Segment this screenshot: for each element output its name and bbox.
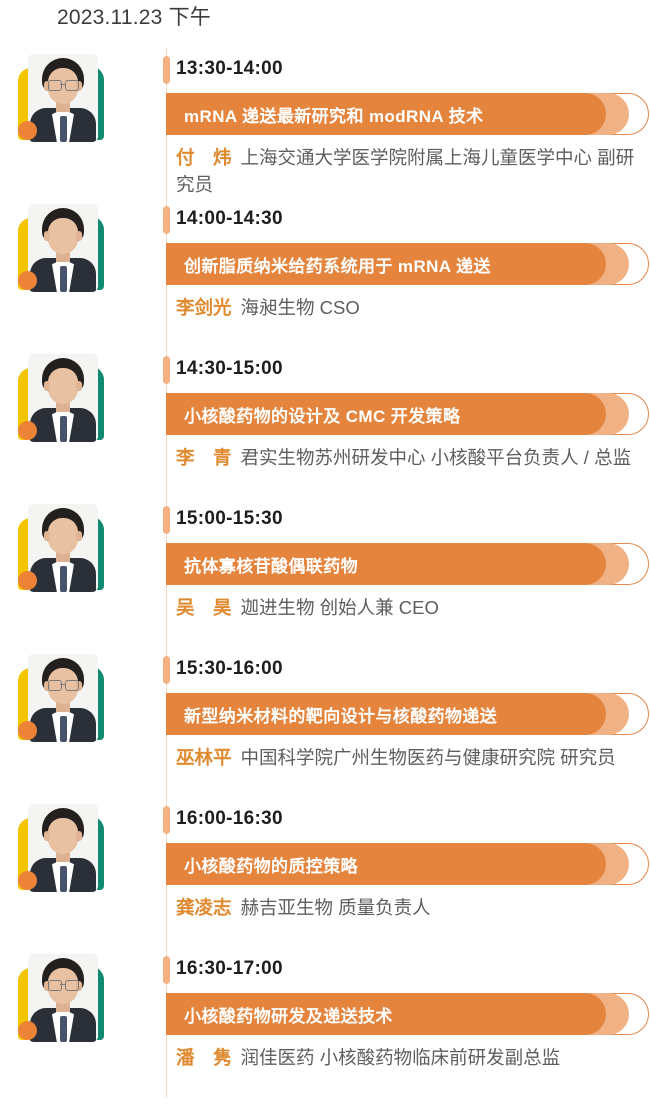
timeline-tick [163,806,170,834]
timeline-tick [163,206,170,234]
session-title: 小核酸药物的设计及 CMC 开发策略 [184,402,460,427]
speaker-info: 吴 昊迦进生物 创始人兼 CEO [176,594,646,621]
page-title: 2023.11.23 下午 [57,4,211,32]
speaker-avatar [14,204,110,292]
session-time: 14:30-15:00 [176,358,283,380]
speaker-name: 付 炜 [176,147,232,168]
session-time: 16:00-16:30 [176,808,283,830]
speaker-info: 龚凌志赫吉亚生物 质量负责人 [176,894,646,921]
speaker-info: 付 炜上海交通大学医学院附属上海儿童医学中心 副研究员 [176,144,646,198]
speaker-info: 李剑光海昶生物 CSO [176,294,646,321]
speaker-affiliation: 上海交通大学医学院附属上海儿童医学中心 副研究员 [176,147,634,195]
speaker-affiliation: 中国科学院广州生物医药与健康研究院 研究员 [241,747,616,768]
session-row[interactable]: 15:30-16:00新型纳米材料的靶向设计与核酸药物递送巫林平中国科学院广州生… [0,648,650,798]
speaker-photo [28,54,98,142]
session-title: 抗体寡核苷酸偶联药物 [184,552,358,577]
speaker-photo [28,354,98,442]
speaker-avatar [14,504,110,592]
session-row[interactable]: 14:00-14:30创新脂质纳米给药系统用于 mRNA 递送李剑光海昶生物 C… [0,198,650,348]
session-title: 新型纳米材料的靶向设计与核酸药物递送 [184,702,497,727]
speaker-name: 龚凌志 [176,897,232,918]
session-row[interactable]: 15:00-15:30抗体寡核苷酸偶联药物吴 昊迦进生物 创始人兼 CEO [0,498,650,648]
session-time: 15:00-15:30 [176,508,283,530]
session-time: 13:30-14:00 [176,58,283,80]
timeline-tick [163,656,170,684]
speaker-avatar [14,954,110,1042]
session-title: 小核酸药物的质控策略 [184,852,358,877]
speaker-affiliation: 润佳医药 小核酸药物临床前研发副总监 [241,1047,561,1068]
speaker-avatar [14,804,110,892]
speaker-affiliation: 赫吉亚生物 质量负责人 [241,897,431,918]
session-title-chip[interactable]: 小核酸药物的设计及 CMC 开发策略 [166,393,650,435]
speaker-photo [28,654,98,742]
timeline-tick [163,356,170,384]
avatar-accent-dot [18,421,37,440]
avatar-accent-dot [18,1021,37,1040]
session-row[interactable]: 16:00-16:30小核酸药物的质控策略龚凌志赫吉亚生物 质量负责人 [0,798,650,948]
avatar-accent-dot [18,121,37,140]
speaker-info: 潘 隽润佳医药 小核酸药物临床前研发副总监 [176,1044,646,1071]
speaker-avatar [14,354,110,442]
session-time: 14:00-14:30 [176,208,283,230]
session-title-chip[interactable]: 小核酸药物的质控策略 [166,843,650,885]
avatar-accent-dot [18,871,37,890]
speaker-name: 潘 隽 [176,1047,232,1068]
speaker-photo [28,504,98,592]
timeline-tick [163,506,170,534]
speaker-name: 吴 昊 [176,597,232,618]
timeline-tick [163,956,170,984]
session-time: 15:30-16:00 [176,658,283,680]
speaker-avatar [14,54,110,142]
session-title: 创新脂质纳米给药系统用于 mRNA 递送 [184,252,491,277]
speaker-info: 巫林平中国科学院广州生物医药与健康研究院 研究员 [176,744,646,771]
session-row[interactable]: 14:30-15:00小核酸药物的设计及 CMC 开发策略李 青君实生物苏州研发… [0,348,650,498]
speaker-photo [28,804,98,892]
speaker-affiliation: 海昶生物 CSO [241,297,360,318]
speaker-photo [28,204,98,292]
session-row[interactable]: 16:30-17:00小核酸药物研发及递送技术潘 隽润佳医药 小核酸药物临床前研… [0,948,650,1098]
avatar-accent-dot [18,721,37,740]
session-title-chip[interactable]: 抗体寡核苷酸偶联药物 [166,543,650,585]
speaker-name: 李 青 [176,447,232,468]
session-title-chip[interactable]: mRNA 递送最新研究和 modRNA 技术 [166,93,650,135]
avatar-accent-dot [18,271,37,290]
speaker-affiliation: 迦进生物 创始人兼 CEO [241,597,439,618]
session-title-chip[interactable]: 小核酸药物研发及递送技术 [166,993,650,1035]
session-list: 13:30-14:00mRNA 递送最新研究和 modRNA 技术付 炜上海交通… [0,48,650,1098]
session-title-chip[interactable]: 创新脂质纳米给药系统用于 mRNA 递送 [166,243,650,285]
speaker-affiliation: 君实生物苏州研发中心 小核酸平台负责人 / 总监 [241,447,632,468]
speaker-avatar [14,654,110,742]
session-title-chip[interactable]: 新型纳米材料的靶向设计与核酸药物递送 [166,693,650,735]
speaker-info: 李 青君实生物苏州研发中心 小核酸平台负责人 / 总监 [176,444,646,471]
session-row[interactable]: 13:30-14:00mRNA 递送最新研究和 modRNA 技术付 炜上海交通… [0,48,650,198]
timeline-tick [163,56,170,84]
speaker-name: 李剑光 [176,297,232,318]
speaker-name: 巫林平 [176,747,232,768]
session-title: 小核酸药物研发及递送技术 [184,1002,393,1027]
session-time: 16:30-17:00 [176,958,283,980]
session-title: mRNA 递送最新研究和 modRNA 技术 [184,102,483,127]
speaker-photo [28,954,98,1042]
avatar-accent-dot [18,571,37,590]
